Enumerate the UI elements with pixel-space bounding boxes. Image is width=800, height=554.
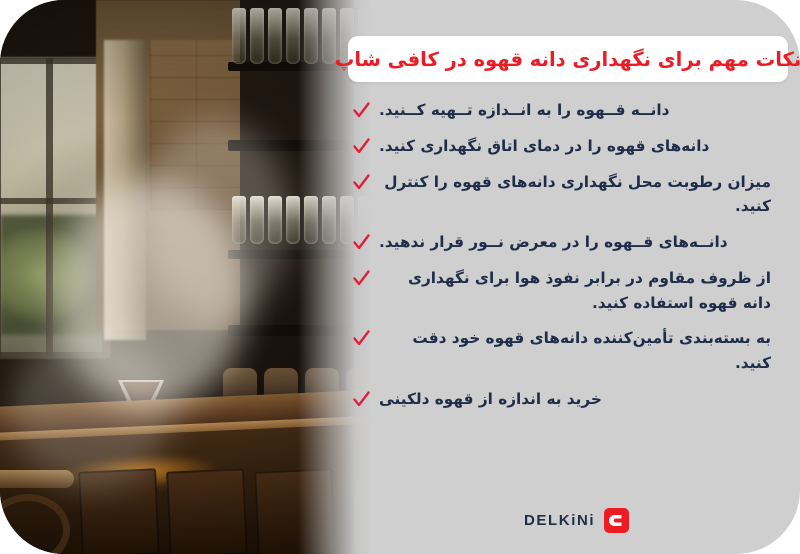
tips-list: دانــه قــهوه را به انــدازه تــهیه کــن…: [352, 98, 790, 423]
infographic-canvas: نکات مهم برای نگهداری دانه قهوه در کافی …: [0, 0, 800, 554]
tip-text: دانــه قــهوه را به انــدازه تــهیه کــن…: [379, 98, 669, 123]
coffee-shop-photo: [0, 0, 372, 554]
list-item: خرید به اندازه از قهوه دلکینی: [352, 387, 790, 412]
delkini-logo-icon: [604, 508, 629, 533]
list-item: دانه‌های قهوه را در دمای اتاق نگهداری کن…: [352, 134, 790, 159]
tip-text: دانه‌های قهوه را در دمای اتاق نگهداری کن…: [379, 134, 709, 159]
check-icon: [352, 173, 371, 192]
list-item: به بسته‌بندی تأمین‌کننده دانه‌های قهوه خ…: [352, 326, 790, 376]
tip-text: خرید به اندازه از قهوه دلکینی: [379, 387, 602, 412]
check-icon: [352, 390, 371, 409]
page-title: نکات مهم برای نگهداری دانه قهوه در کافی …: [335, 48, 800, 71]
check-icon: [352, 233, 371, 252]
list-item: دانــه‌های قــهوه را در معرض نــور قرار …: [352, 230, 790, 255]
tip-text: از ظروف مقاوم در برابر نفوذ هوا برای نگه…: [379, 266, 771, 316]
list-item: از ظروف مقاوم در برابر نفوذ هوا برای نگه…: [352, 266, 790, 316]
brand-name: DELKiNi: [524, 512, 595, 529]
list-item: دانــه قــهوه را به انــدازه تــهیه کــن…: [352, 98, 790, 123]
check-icon: [352, 137, 371, 156]
title-banner: نکات مهم برای نگهداری دانه قهوه در کافی …: [348, 36, 788, 82]
tip-text: دانــه‌های قــهوه را در معرض نــور قرار …: [379, 230, 728, 255]
check-icon: [352, 101, 371, 120]
content-panel: نکات مهم برای نگهداری دانه قهوه در کافی …: [348, 0, 800, 554]
tip-text: میزان رطوبت محل نگهداری دانه‌های قهوه را…: [379, 170, 771, 220]
check-icon: [352, 329, 371, 348]
check-icon: [352, 269, 371, 288]
tip-text: به بسته‌بندی تأمین‌کننده دانه‌های قهوه خ…: [379, 326, 771, 376]
brand-logo: DELKiNi: [524, 508, 629, 533]
rounded-card: نکات مهم برای نگهداری دانه قهوه در کافی …: [0, 0, 800, 554]
list-item: میزان رطوبت محل نگهداری دانه‌های قهوه را…: [352, 170, 790, 220]
